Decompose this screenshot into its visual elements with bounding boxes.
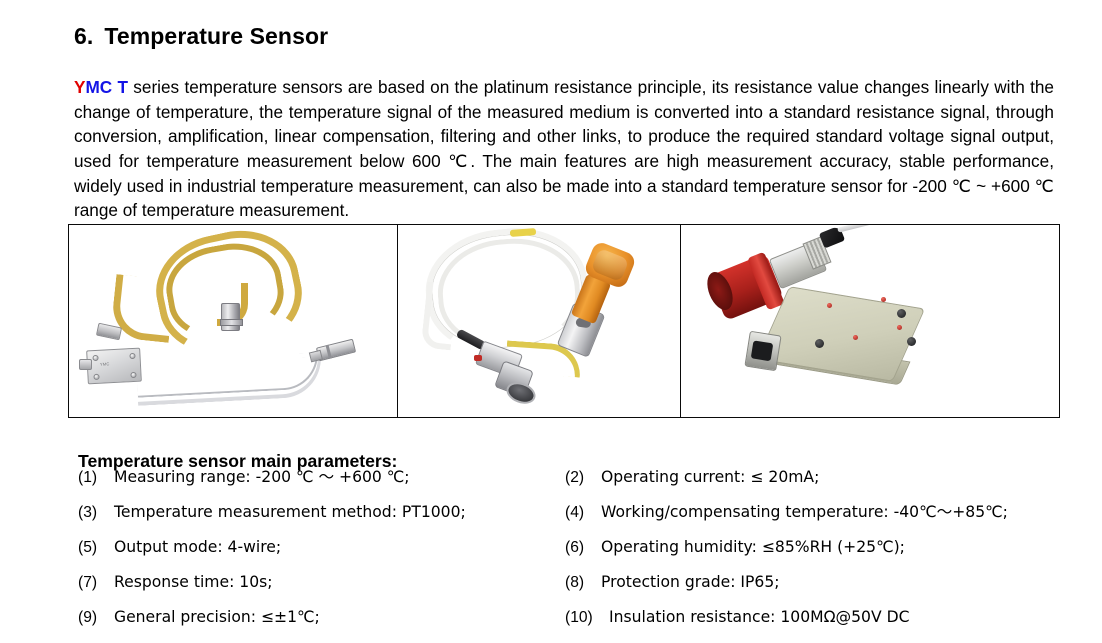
housing-red-screw [897, 325, 902, 330]
parameter-text: Protection grade: IP65; [601, 573, 780, 592]
parameter-item-5: (5) Output mode: 4-wire; [78, 538, 565, 557]
grey-cable-end-connector [316, 339, 356, 362]
parameter-text: Measuring range: -200 ℃ ～ +600 ℃; [114, 468, 410, 487]
signal-conditioner-module: YMC [86, 348, 142, 385]
parameter-row: (3) Temperature measurement method: PT10… [78, 503, 1078, 538]
parameter-text: Response time: 10s; [114, 573, 273, 592]
housing-red-screw [827, 303, 832, 308]
parameter-item-7: (7) Response time: 10s; [78, 573, 565, 592]
parameter-text: Operating humidity: ≤85%RH (+25℃); [601, 538, 905, 557]
section-title-text: Temperature Sensor [104, 23, 328, 49]
parameter-item-3: (3) Temperature measurement method: PT10… [78, 503, 565, 522]
intro-paragraph: YMC T series temperature sensors are bas… [74, 75, 1054, 223]
product-image-gallery: YMC [68, 224, 1060, 418]
parameter-number: (5) [78, 538, 114, 557]
module-screw [129, 353, 135, 359]
brand-letter-y: Y [74, 77, 85, 97]
parameter-item-9: (9) General precision: ≤±1℃; [78, 608, 565, 627]
housing-red-screw [853, 335, 858, 340]
product-photo-3 [681, 225, 1059, 417]
parameter-row: (5) Output mode: 4-wire; (6) Operating h… [78, 538, 1078, 573]
parameter-text: Output mode: 4-wire; [114, 538, 281, 557]
parameter-number: (3) [78, 503, 114, 522]
housing-red-screw [881, 297, 886, 302]
page-title: 6.Temperature Sensor [74, 23, 328, 50]
parameters-list: (1) Measuring range: -200 ℃ ～ +600 ℃; (2… [78, 468, 1078, 643]
parameter-number: (4) [565, 503, 601, 522]
parameter-number: (8) [565, 573, 601, 592]
section-number: 6. [74, 23, 93, 49]
parameter-item-2: (2) Operating current: ≤ 20mA; [565, 468, 1065, 487]
document-page: 6.Temperature Sensor YMC T series temper… [0, 0, 1102, 640]
parameter-item-4: (4) Working/compensating temperature: -4… [565, 503, 1065, 522]
parameter-text: Operating current: ≤ 20mA; [601, 468, 819, 487]
product-photo-2 [398, 225, 681, 417]
housing-mount-hole [907, 337, 916, 346]
parameter-item-8: (8) Protection grade: IP65; [565, 573, 1065, 592]
intro-body-text: series temperature sensors are based on … [74, 77, 1054, 220]
parameter-row: (1) Measuring range: -200 ℃ ～ +600 ℃; (2… [78, 468, 1078, 503]
brand-letters-mc: MC [85, 77, 112, 97]
parameter-item-10: (10) Insulation resistance: 100MΩ@50V DC [565, 608, 1065, 627]
housing-mount-hole [815, 339, 824, 348]
parameter-text: Working/compensating temperature: -40℃～+… [601, 503, 1008, 522]
parameter-text: Insulation resistance: 100MΩ@50V DC [609, 608, 909, 627]
module-screw [93, 374, 99, 380]
cable-metal-connector [221, 303, 240, 331]
parameter-number: (10) [565, 608, 609, 627]
parameter-row: (7) Response time: 10s; (8) Protection g… [78, 573, 1078, 608]
parameter-number: (2) [565, 468, 601, 487]
parameter-number: (9) [78, 608, 114, 627]
parameter-row: (9) General precision: ≤±1℃; (10) Insula… [78, 608, 1078, 643]
housing-mount-hole [897, 309, 906, 318]
module-screw [92, 355, 98, 361]
module-label: YMC [100, 361, 110, 367]
parameter-number: (7) [78, 573, 114, 592]
brand-letter-t: T [118, 77, 129, 97]
sensor-lead-wire [837, 225, 893, 233]
grey-sheathed-cable [136, 356, 323, 406]
parameter-item-6: (6) Operating humidity: ≤85%RH (+25℃); [565, 538, 1065, 557]
red-marker-band [474, 355, 482, 361]
parameter-text: General precision: ≤±1℃; [114, 608, 320, 627]
housing-connector-port [744, 331, 781, 372]
parameter-text: Temperature measurement method: PT1000; [114, 503, 466, 522]
parameter-number: (6) [565, 538, 601, 557]
parameter-number: (1) [78, 468, 114, 487]
parameter-item-1: (1) Measuring range: -200 ℃ ～ +600 ℃; [78, 468, 565, 487]
module-side-port [79, 359, 92, 370]
product-photo-1: YMC [69, 225, 398, 417]
